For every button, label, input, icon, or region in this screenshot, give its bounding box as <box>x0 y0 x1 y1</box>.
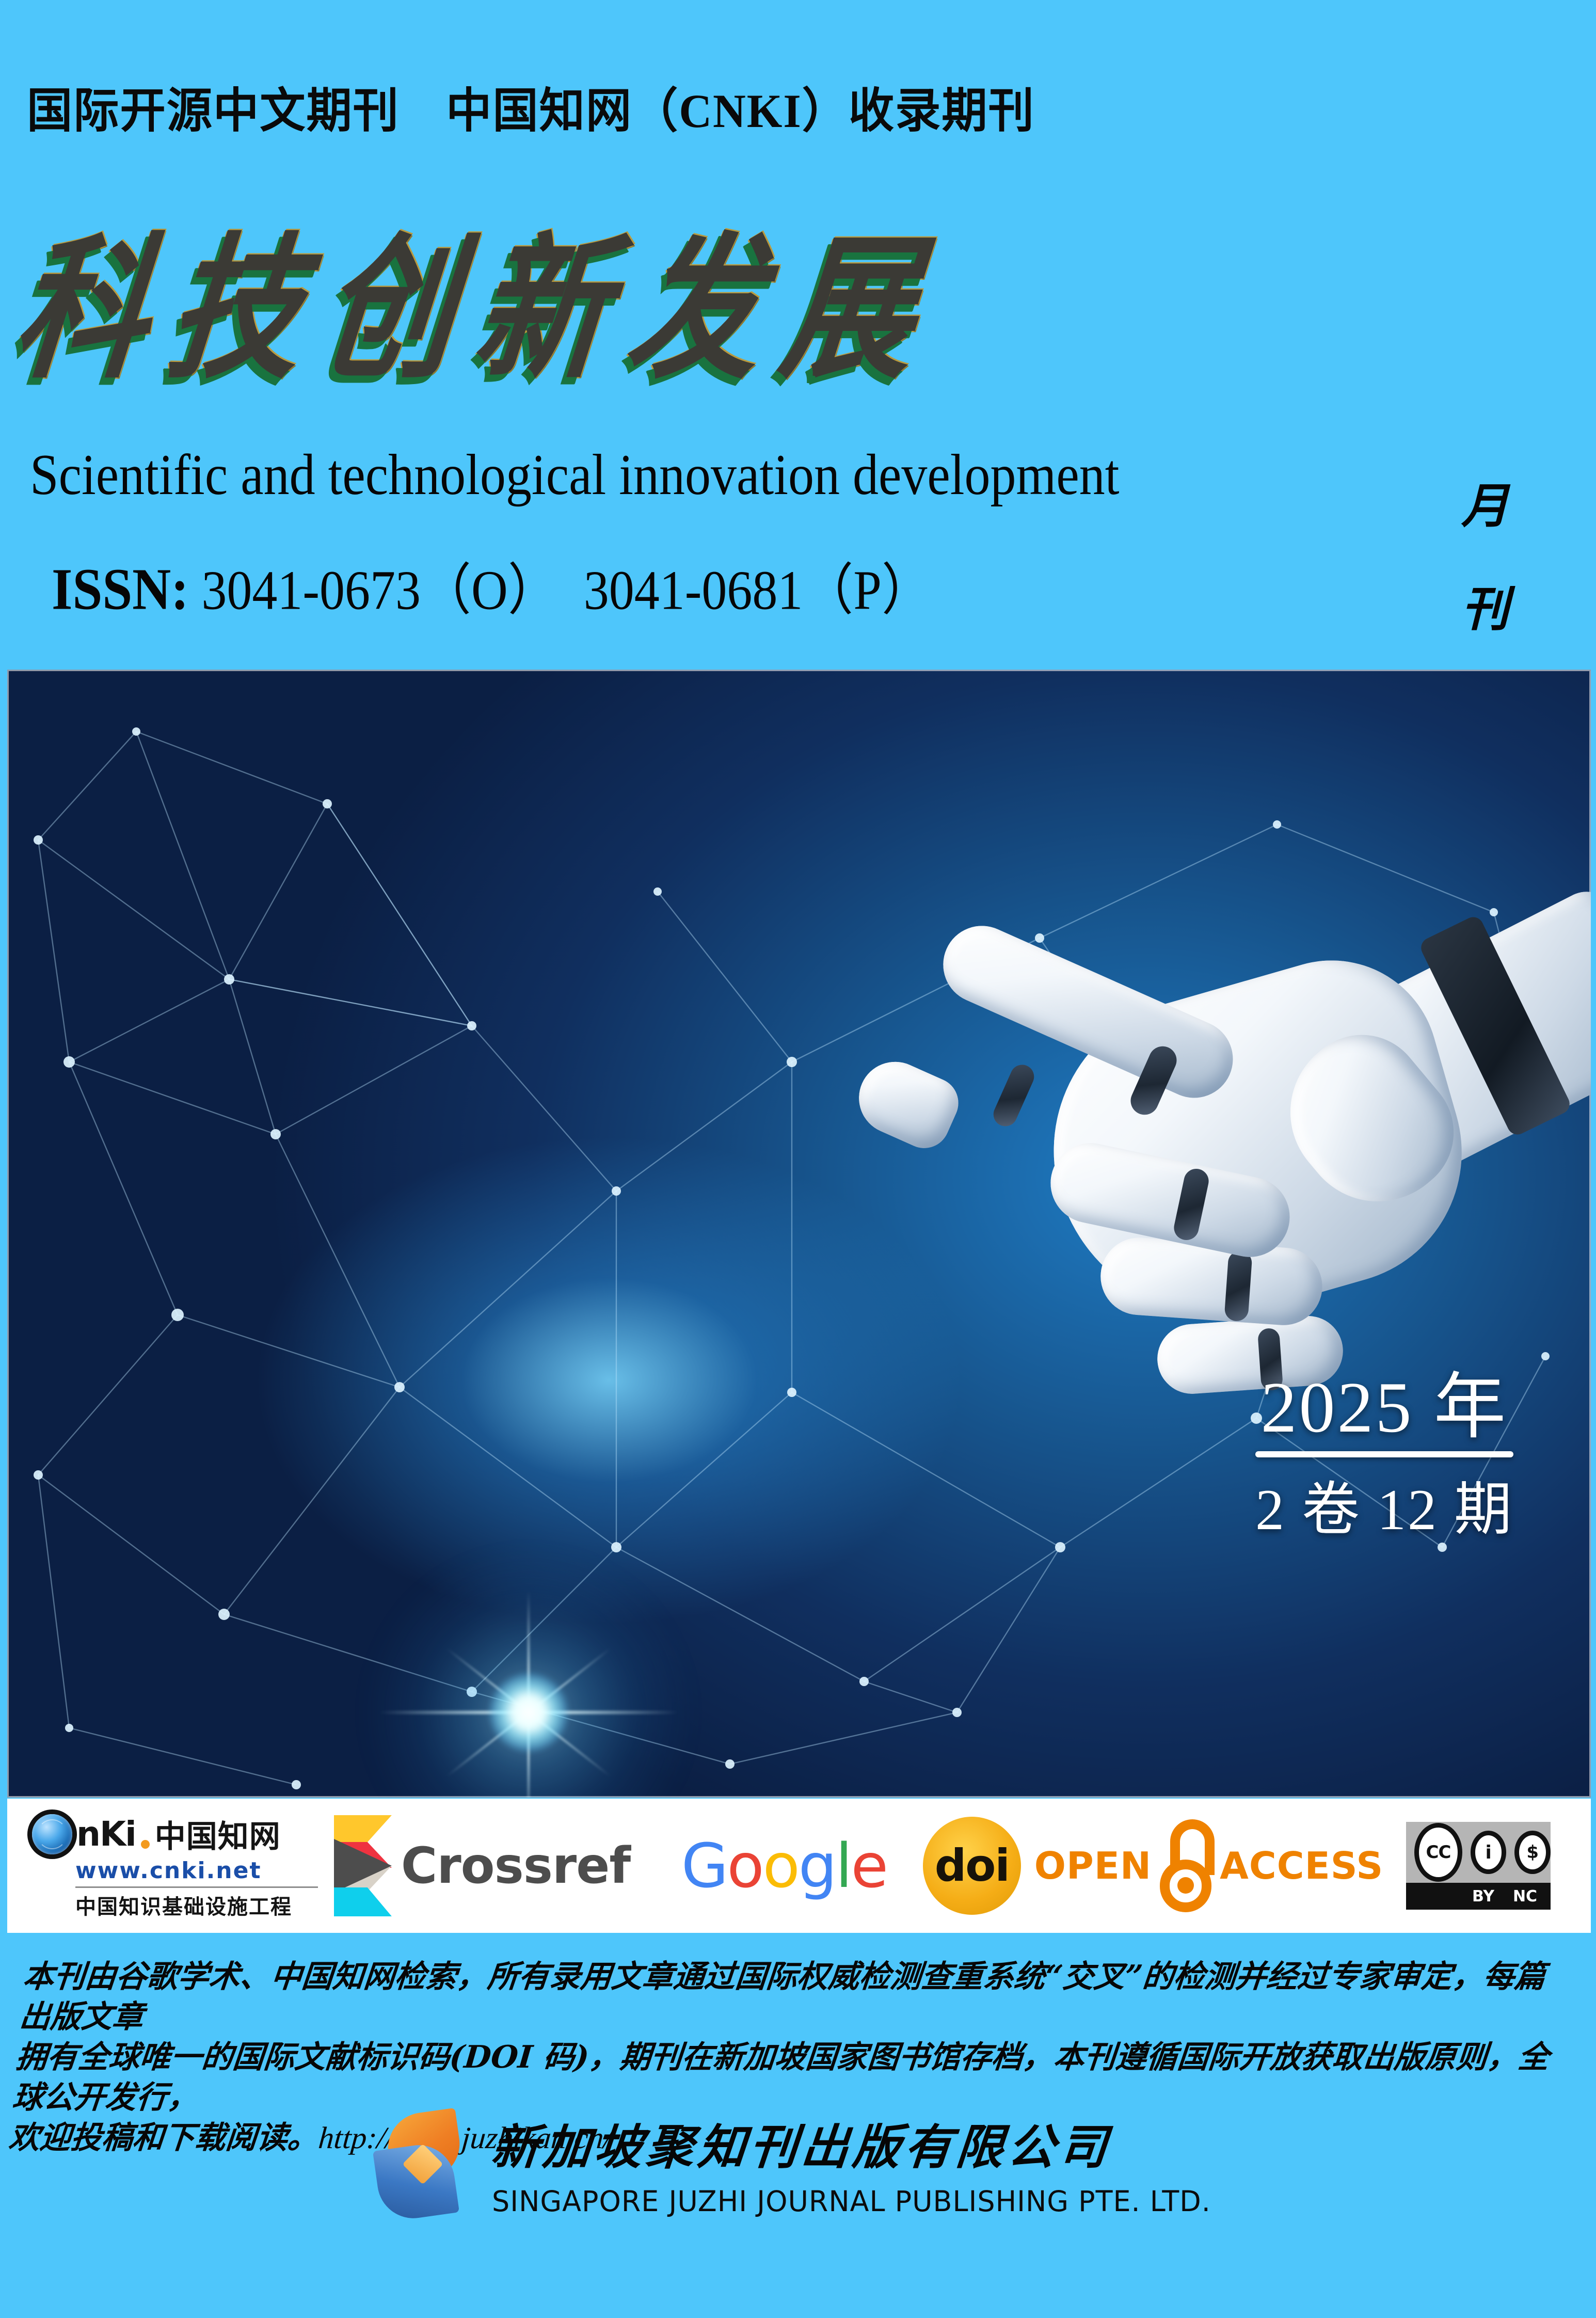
cc-icon: CC <box>1414 1823 1462 1882</box>
doi-open-access-group[interactable]: doi OPEN ACCESS <box>921 1799 1385 1933</box>
hero-image: 2025 年 2 卷 12 期 <box>7 670 1591 1798</box>
journal-title-english: Scientific and technological innovation … <box>30 441 1120 508</box>
cc-nc-label: NC <box>1513 1887 1537 1906</box>
cnki-divider <box>75 1886 318 1888</box>
publication-frequency: 月 刊 <box>1451 454 1519 661</box>
notice-line-2: 拥有全球唯一的国际文献标识码(DOI 码)，期刊在新加坡国家图书馆存档，本刊遵循… <box>11 2037 1567 2118</box>
publisher-footer: 新加坡聚知刊出版有限公司 SINGAPORE JUZHI JOURNAL PUB… <box>0 2109 1596 2218</box>
cover-header: 国际开源中文期刊 中国知网（CNKI）收录期刊 科技创新发展 Scientifi… <box>0 0 1596 669</box>
indexing-kicker: 国际开源中文期刊 中国知网（CNKI）收录期刊 <box>27 72 1035 141</box>
frequency-char-journal: 刊 <box>1451 558 1519 661</box>
cnki-url: www.cnki.net <box>75 1857 262 1884</box>
indexing-logo-strip: nKi 中国知网 www.cnki.net 中国知识基础设施工程 Crossre… <box>7 1799 1591 1933</box>
publisher-logo-icon <box>370 2109 473 2218</box>
journal-title-chinese: 科技创新发展 <box>6 183 950 408</box>
journal-cover: 国际开源中文期刊 中国知网（CNKI）收录期刊 科技创新发展 Scientifi… <box>0 0 1596 2318</box>
google-wordmark: Google <box>681 1830 887 1901</box>
issue-year: 2025 年 <box>1255 1372 1513 1444</box>
doi-badge-icon: doi <box>923 1817 1021 1915</box>
open-access-label-right: ACCESS <box>1220 1844 1383 1887</box>
cnki-logo[interactable]: nKi 中国知网 www.cnki.net 中国知识基础设施工程 <box>7 1799 317 1933</box>
doi-wordmark: doi <box>935 1840 1009 1892</box>
open-access-label-left: OPEN <box>1034 1844 1152 1887</box>
cc-by-icon: i <box>1471 1831 1507 1874</box>
issn-value: 3041-0673（O） 3041-0681（P） <box>201 560 932 622</box>
crossref-wordmark: Crossref <box>401 1837 630 1895</box>
issue-volume: 2 卷 12 期 <box>1255 1463 1513 1546</box>
issn-label: ISSN: <box>52 557 189 622</box>
globe-icon <box>32 1814 72 1854</box>
creative-commons-license-badge[interactable]: CC i $ BY NC <box>1385 1799 1571 1933</box>
open-lock-icon <box>1157 1819 1215 1912</box>
crossref-logo[interactable]: Crossref <box>317 1799 647 1933</box>
issn-line: ISSN: 3041-0673（O） 3041-0681（P） <box>52 545 932 625</box>
google-scholar-logo[interactable]: Google <box>647 1799 921 1933</box>
issue-divider <box>1255 1451 1513 1457</box>
cc-nc-icon: $ <box>1514 1831 1551 1874</box>
cc-by-label: BY <box>1472 1887 1494 1906</box>
cnki-dot-icon <box>141 1840 150 1849</box>
cnki-wordmark: nKi <box>76 1814 136 1854</box>
notice-line-1: 本刊由谷歌学术、中国知网检索，所有录用文章通过国际权威检测查重系统“交叉”的检测… <box>18 1957 1573 2037</box>
frequency-char-month: 月 <box>1451 454 1519 558</box>
crossref-mark-icon <box>334 1815 392 1916</box>
publisher-name-chinese: 新加坡聚知刊出版有限公司 <box>489 2109 1115 2178</box>
cnki-chinese-name: 中国知网 <box>155 1812 281 1856</box>
issue-badge: 2025 年 2 卷 12 期 <box>1255 1372 1513 1546</box>
cnki-subtitle: 中国知识基础设施工程 <box>75 1890 292 1920</box>
open-access-logo: OPEN ACCESS <box>1034 1819 1383 1912</box>
publisher-name-english: SINGAPORE JUZHI JOURNAL PUBLISHING PTE. … <box>492 2185 1211 2218</box>
